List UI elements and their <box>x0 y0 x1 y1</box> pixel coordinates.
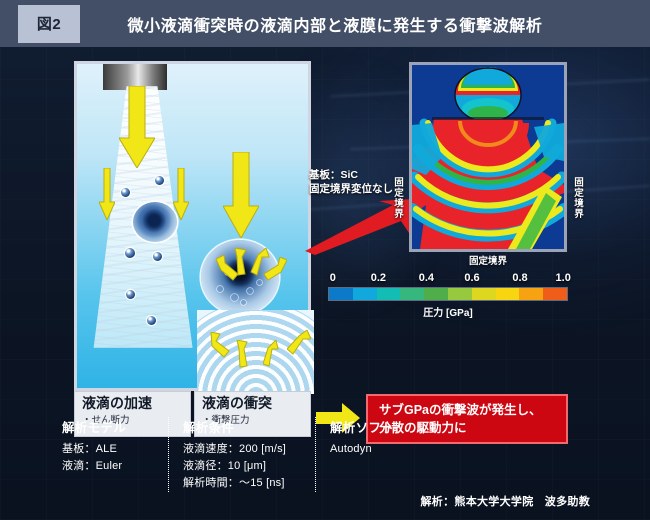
colorbar-tick: 0.6 <box>464 272 479 284</box>
shear-arrow-left-icon <box>99 168 115 220</box>
shockwave-ripple-graphic <box>197 310 314 394</box>
boundary-label-left: 固定境界 <box>390 177 404 219</box>
accelerating-droplet <box>133 202 177 242</box>
analysis-software-column: 解析ソフト Autodyn <box>330 417 440 492</box>
shock-arrow-icon <box>287 330 311 356</box>
droplet-particle <box>125 248 135 258</box>
colorbar-segment <box>496 288 520 300</box>
analysis-credit: 解析：熊本大学大学院 波多助教 <box>421 493 591 509</box>
column-line: 解析時間：～15 [ns] <box>183 475 301 492</box>
colorbar-axis-label: 圧力 [GPa] <box>328 304 568 319</box>
shock-arrow-icon <box>235 340 251 368</box>
pressure-field-svg <box>412 65 564 249</box>
colorbar-tick: 1.0 <box>556 272 571 284</box>
content-stage: 液滴の加速 ・せん断力 液滴の衝突 ・衝撃圧力 基板：SiC 固定境界変位なし <box>0 47 650 520</box>
analysis-model-column: 解析モデル 基板：ALE 液滴：Euler <box>62 417 154 492</box>
flow-arrow-down-icon <box>119 86 155 168</box>
impact-arrow-down-icon <box>223 152 259 238</box>
micro-bubble <box>231 294 238 301</box>
simulation-pressure-field-image <box>409 62 567 252</box>
droplet-particle <box>155 176 164 185</box>
boundary-label-bottom: 固定境界 <box>409 253 567 267</box>
column-line: 液滴径：10 [μm] <box>183 458 301 475</box>
pressure-arrow-icon <box>232 248 250 276</box>
column-line: 液滴：Euler <box>62 458 154 475</box>
colorbar-tick: 0 <box>330 272 336 284</box>
colorbar-segment <box>519 288 543 300</box>
colorbar-segment <box>543 288 567 300</box>
pressure-arrow-icon <box>261 257 287 281</box>
page-title: 微小液滴衝突時の液滴内部と液膜に発生する衝撃波解析 <box>80 12 650 36</box>
analysis-conditions-column: 解析条件 液滴速度：200 [m/s] 液滴径：10 [μm] 解析時間：～15… <box>183 417 301 492</box>
colorbar-segment <box>329 288 353 300</box>
header-bar: 図2 微小液滴衝突時の液滴内部と液膜に発生する衝撃波解析 <box>0 0 650 47</box>
shock-arrow-icon <box>263 340 279 368</box>
colorbar-segment <box>377 288 401 300</box>
callout-line-1: サブGPaの衝撃波が発生し、 <box>379 403 542 417</box>
analysis-columns: 解析モデル 基板：ALE 液滴：Euler 解析条件 液滴速度：200 [m/s… <box>62 417 440 492</box>
shear-arrow-right-icon <box>173 168 189 220</box>
column-heading: 解析条件 <box>183 417 301 436</box>
colorbar-segment <box>353 288 377 300</box>
colorbar-tick: 0.8 <box>512 272 527 284</box>
colorbar-ticks: 0 0.2 0.4 0.6 0.8 1.0 <box>328 272 568 287</box>
analysis-info-footer: 解析モデル 基板：ALE 液滴：Euler 解析条件 液滴速度：200 [m/s… <box>62 417 590 509</box>
column-divider <box>168 417 169 492</box>
droplet-particle <box>153 252 162 261</box>
shock-arrow-icon <box>207 332 231 358</box>
micro-bubble <box>241 300 246 305</box>
column-heading: 解析モデル <box>62 417 154 436</box>
colorbar-tick: 0.2 <box>371 272 386 284</box>
column-divider <box>315 417 316 492</box>
boundary-label-right: 固定境界 <box>570 177 584 219</box>
column-line: Autodyn <box>330 441 440 458</box>
figure-badge: 図2 <box>18 5 80 43</box>
micro-bubble <box>247 288 253 294</box>
column-line: 液滴速度：200 [m/s] <box>183 441 301 458</box>
colorbar-segment <box>424 288 448 300</box>
caption-title: 液滴の衝突 <box>202 395 310 411</box>
column-heading: 解析ソフト <box>330 417 440 436</box>
droplet-particle <box>126 290 135 299</box>
micro-bubble <box>217 286 223 292</box>
colorbar: 0 0.2 0.4 0.6 0.8 1.0 圧力 [GPa] <box>328 272 568 319</box>
colorbar-segment <box>448 288 472 300</box>
droplet-illustration-panel <box>74 61 311 391</box>
colorbar-tick: 0.4 <box>419 272 434 284</box>
droplet-particle <box>121 188 130 197</box>
caption-title: 液滴の加速 <box>82 395 190 411</box>
colorbar-segment <box>472 288 496 300</box>
colorbar-segment <box>400 288 424 300</box>
column-line: 基板：ALE <box>62 441 154 458</box>
droplet-particle <box>147 316 156 325</box>
colorbar-gradient <box>328 287 568 301</box>
